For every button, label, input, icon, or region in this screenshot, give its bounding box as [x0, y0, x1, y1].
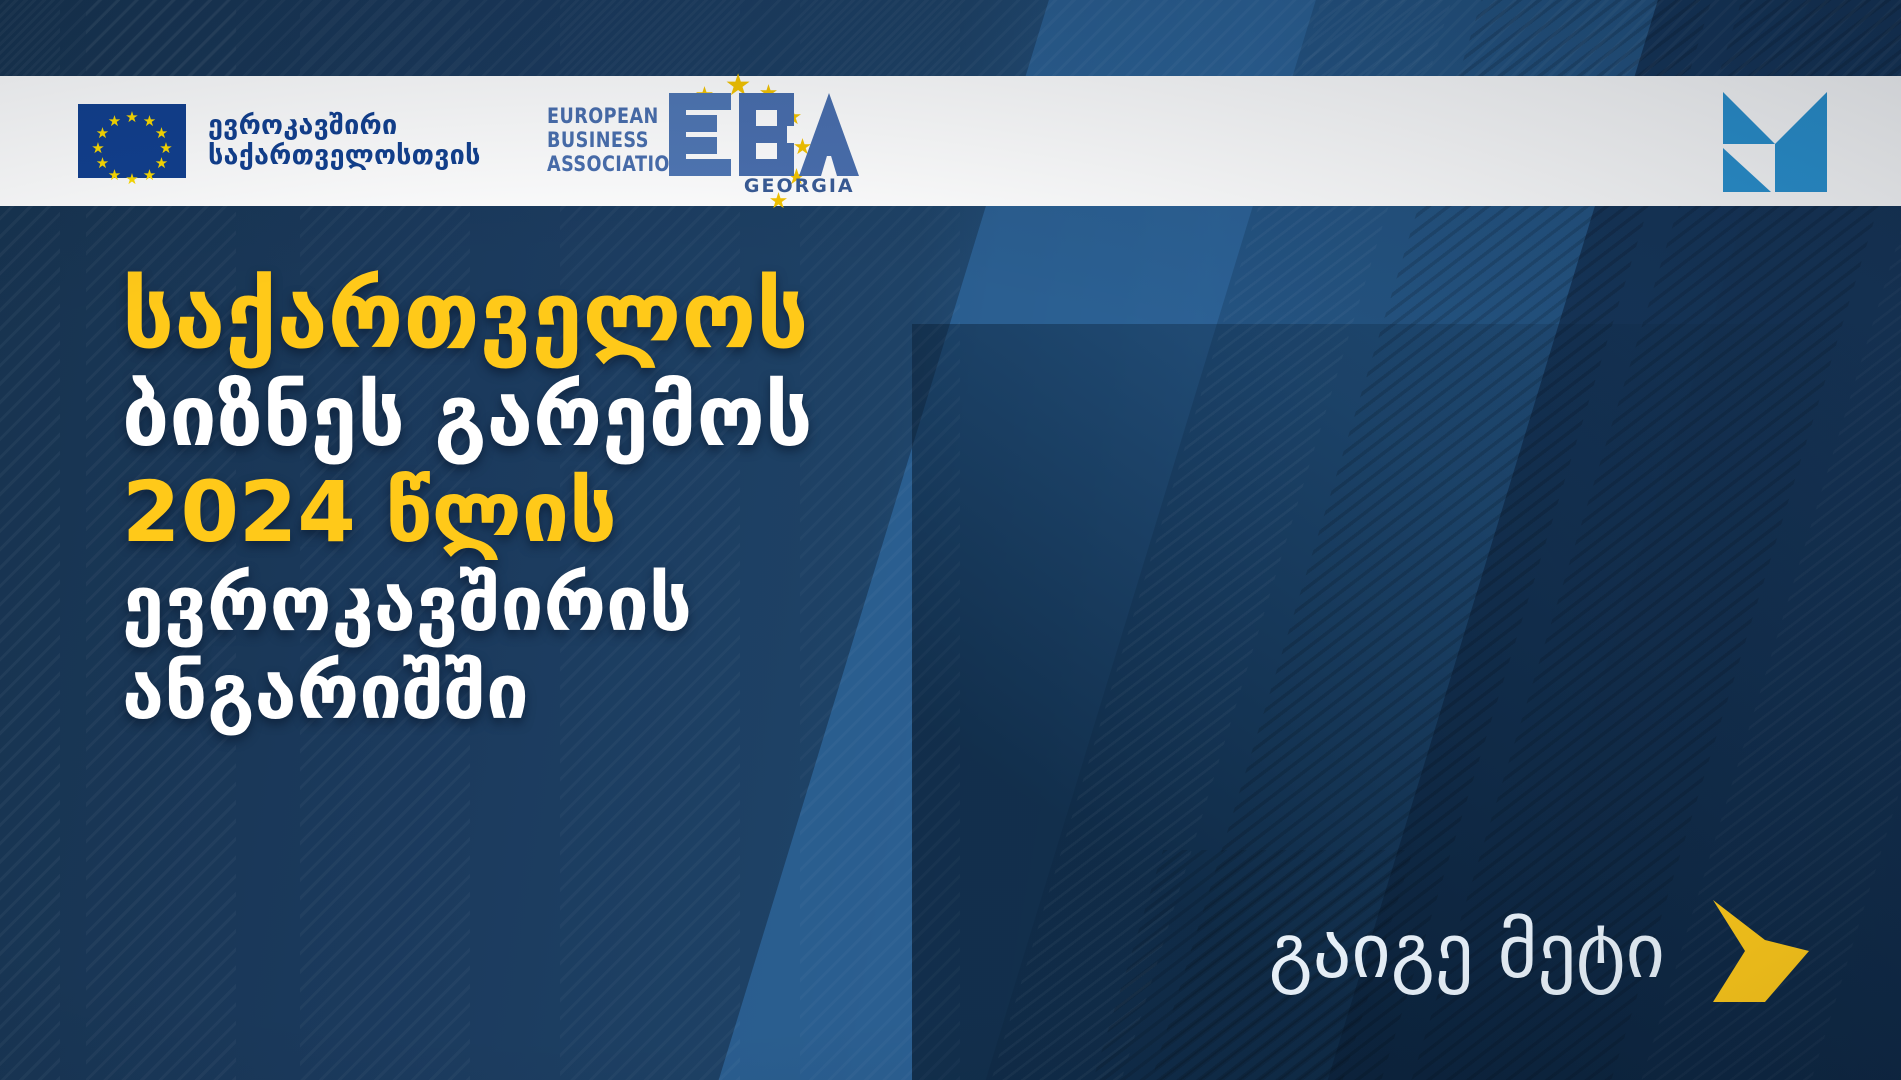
eu-logo-block: ★ ★ ★ ★ ★ ★ ★ ★ ★ ★ ★ ★ ევროკავშირი საქა…: [78, 104, 481, 178]
bg-top-hatch: [0, 0, 1901, 76]
logo-bar: ★ ★ ★ ★ ★ ★ ★ ★ ★ ★ ★ ★ ევროკავშირი საქა…: [0, 76, 1901, 206]
arrow-right-icon: [1699, 900, 1809, 1002]
promo-banner: ★ ★ ★ ★ ★ ★ ★ ★ ★ ★ ★ ★ ევროკავშირი საქა…: [0, 0, 1901, 1080]
headline-block: საქართველოს ბიზნეს გარემოს 2024 წლის ევრ…: [122, 270, 1122, 742]
eu-label-line2: საქართველოსთვის: [208, 141, 481, 171]
cta-label: გაიგე მეტი: [1269, 913, 1665, 989]
eba-wordmark: EUROPEAN BUSINESS ASSOCIATION: [547, 105, 646, 177]
headline-line-1: საქართველოს: [122, 270, 1122, 362]
eba-logo-block: ★ ★ ★ ★ ★ ★ ★ EUROPEAN BUSINESS ASSOCIAT…: [547, 93, 859, 189]
headline-line-5: ანგარიშში: [122, 654, 1122, 730]
eu-label-line1: ევროკავშირი: [208, 111, 481, 141]
m-monogram-logo-icon: [1723, 92, 1827, 192]
headline-line-3: 2024 წლის: [122, 470, 1122, 554]
eba-word-line2: BUSINESS: [547, 129, 646, 153]
eba-word-line1: EUROPEAN: [547, 105, 646, 129]
eu-label: ევროკავშირი საქართველოსთვის: [208, 111, 481, 171]
eba-country-label: GEORGIA: [744, 175, 855, 197]
headline-line-4: ევროკავშირის: [122, 566, 1122, 642]
learn-more-cta[interactable]: გაიგე მეტი: [1269, 900, 1809, 1002]
european-union-flag-icon: ★ ★ ★ ★ ★ ★ ★ ★ ★ ★ ★ ★: [78, 104, 186, 178]
eba-word-line3: ASSOCIATION: [547, 153, 646, 177]
eba-monogram-icon: GEORGIA: [669, 93, 859, 189]
headline-line-2: ბიზნეს გარემოს: [122, 374, 1122, 458]
